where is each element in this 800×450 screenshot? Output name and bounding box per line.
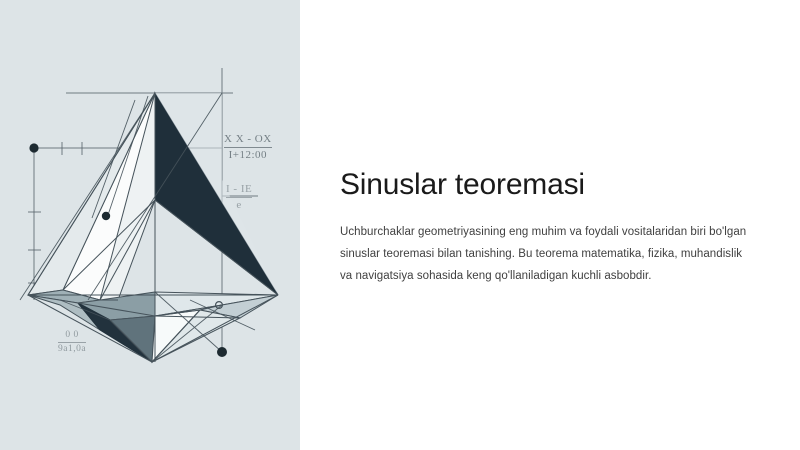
annotation-formula-mid-numerator: I - IE	[226, 183, 252, 196]
dot-marker-upper-left	[29, 143, 38, 152]
annotation-formula-top-numerator: X X - OX	[224, 133, 272, 146]
annotation-formula-mid: I - IE e	[226, 183, 252, 211]
annotation-formula-top: X X - OX I+12:00	[224, 133, 272, 161]
content-panel: Sinuslar teoremasi Uchburchaklar geometr…	[300, 0, 800, 450]
annotation-scale-numerator: 0 0	[58, 330, 86, 341]
content-block: Sinuslar teoremasi Uchburchaklar geometr…	[340, 168, 752, 288]
dot-marker-lower-right	[217, 347, 227, 357]
annotation-formula-mid-denominator: e	[226, 197, 252, 212]
dot-marker-mid-left	[102, 212, 110, 220]
page-title: Sinuslar teoremasi	[340, 168, 752, 203]
annotation-scale-denominator: 9a1,0a	[58, 342, 86, 355]
body-paragraph: Uchburchaklar geometriyasining eng muhim…	[340, 221, 752, 288]
annotation-scale-label: 0 0 9a1,0a	[58, 330, 86, 355]
slide-canvas: X X - OX I+12:00 I - IE e 0 0 9a1,0a Sin…	[0, 0, 800, 450]
illustration-panel: X X - OX I+12:00 I - IE e 0 0 9a1,0a	[0, 0, 300, 450]
geometric-crystal-illustration	[0, 0, 300, 450]
annotation-formula-top-denominator: I+12:00	[224, 147, 272, 162]
